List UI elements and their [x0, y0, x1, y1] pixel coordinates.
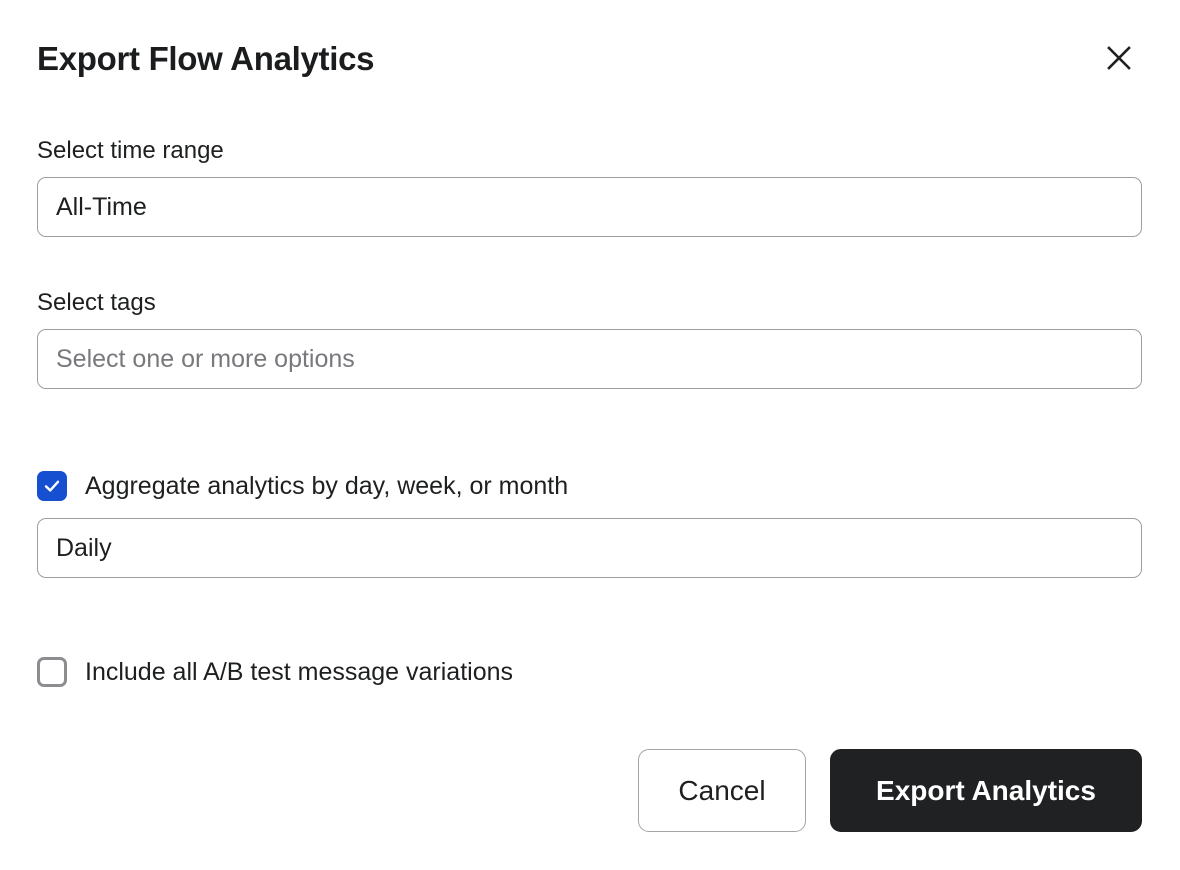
close-icon [1105, 44, 1133, 72]
time-range-field: Select time range All-Time [37, 136, 1142, 237]
variations-checkbox[interactable] [37, 657, 67, 687]
dialog-header: Export Flow Analytics [37, 32, 1142, 86]
close-button[interactable] [1096, 35, 1142, 81]
check-icon [42, 476, 62, 496]
aggregate-checkbox[interactable] [37, 471, 67, 501]
tags-placeholder: Select one or more options [56, 344, 355, 374]
tags-select[interactable]: Select one or more options [37, 329, 1142, 389]
time-range-select[interactable]: All-Time [37, 177, 1142, 237]
time-range-value: All-Time [56, 192, 147, 222]
variations-checkbox-row[interactable]: Include all A/B test message variations [37, 657, 513, 687]
dialog-footer: Cancel Export Analytics [37, 749, 1142, 832]
aggregate-interval-field: Daily [37, 518, 1142, 578]
aggregate-interval-value: Daily [56, 533, 112, 563]
aggregate-checkbox-row[interactable]: Aggregate analytics by day, week, or mon… [37, 471, 568, 501]
time-range-label: Select time range [37, 136, 1142, 166]
export-analytics-button[interactable]: Export Analytics [830, 749, 1142, 832]
tags-label: Select tags [37, 288, 1142, 318]
variations-checkbox-label[interactable]: Include all A/B test message variations [85, 657, 513, 687]
aggregate-checkbox-label[interactable]: Aggregate analytics by day, week, or mon… [85, 471, 568, 501]
aggregate-interval-select[interactable]: Daily [37, 518, 1142, 578]
page-title: Export Flow Analytics [37, 32, 1142, 86]
tags-field: Select tags Select one or more options [37, 288, 1142, 389]
export-flow-analytics-dialog: Export Flow Analytics Select time range … [0, 0, 1180, 870]
cancel-button[interactable]: Cancel [638, 749, 806, 832]
